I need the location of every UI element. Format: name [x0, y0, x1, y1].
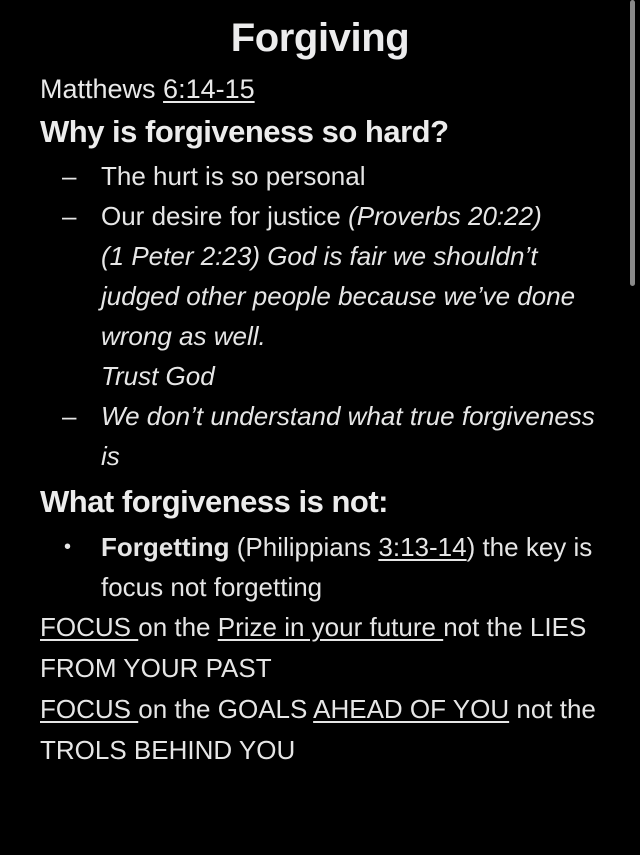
list-item: – Our desire for justice (Proverbs 20:22…: [40, 196, 600, 236]
list-item-scripture-ref: (Proverbs 20:22): [348, 201, 542, 231]
closing-segment: on the GOALS: [138, 694, 313, 724]
list-item-label: We don’t understand what true forgivenes…: [101, 401, 595, 471]
document-body[interactable]: Forgiving Matthews 6:14-15 Why is forgiv…: [0, 0, 640, 855]
reference-prefix: Matthews: [40, 74, 163, 104]
list-item: • Forgetting (Philippians 3:13-14) the k…: [40, 527, 600, 607]
list-item: – We don’t understand what true forgiven…: [40, 396, 600, 476]
scrollbar-thumb[interactable]: [630, 0, 635, 286]
list-item-label: Our desire for justice: [101, 201, 348, 231]
closing-line-two: FOCUS on the GOALS AHEAD OF YOU not the …: [40, 689, 600, 771]
bullet-dash-icon: –: [62, 396, 86, 436]
closing-focus-emphasis: FOCUS: [40, 694, 138, 724]
italic-explanation-paragraph: (1 Peter 2:23) God is fair we shouldn’t …: [40, 236, 600, 356]
page-title: Forgiving: [40, 14, 600, 62]
bullet-dash-icon: –: [62, 156, 86, 196]
italic-trust-line: Trust God: [40, 356, 600, 396]
list-item-verse: 3:13-14: [378, 532, 466, 562]
list-item-label: The hurt is so personal: [101, 161, 365, 191]
closing-segment: on the: [138, 612, 218, 642]
list-item: – The hurt is so personal: [40, 156, 600, 196]
scrollbar[interactable]: [630, 0, 635, 855]
bullet-dash-icon: –: [62, 196, 86, 236]
section-two-heading: What forgiveness is not:: [40, 480, 600, 524]
section-one-bullets: – The hurt is so personal – Our desire f…: [40, 156, 600, 476]
reference-verse: 6:14-15: [163, 74, 255, 104]
section-two-bullets: • Forgetting (Philippians 3:13-14) the k…: [40, 527, 600, 607]
bullet-dot-icon: •: [64, 527, 88, 567]
scripture-reference-line: Matthews 6:14-15: [40, 70, 600, 108]
closing-prize-emphasis: Prize in your future: [218, 612, 443, 642]
section-one-heading: Why is forgiveness so hard?: [40, 110, 600, 154]
closing-ahead-emphasis: AHEAD OF YOU: [313, 694, 509, 724]
closing-line-one: FOCUS on the Prize in your future not th…: [40, 607, 600, 689]
closing-focus-emphasis: FOCUS: [40, 612, 138, 642]
list-item-mid: (Philippians: [230, 532, 379, 562]
list-item-keyword: Forgetting: [101, 532, 230, 562]
